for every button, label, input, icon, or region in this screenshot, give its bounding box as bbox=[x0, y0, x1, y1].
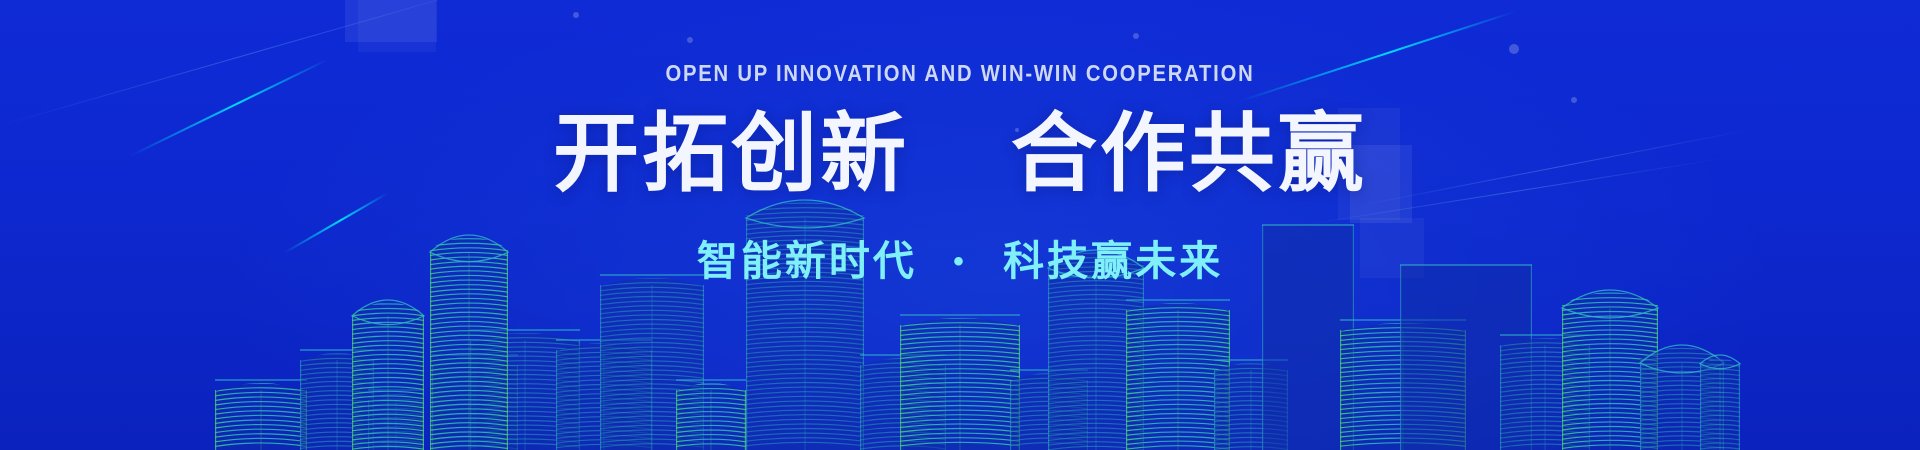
building-10 bbox=[676, 379, 746, 450]
building-13 bbox=[900, 314, 1020, 450]
subtitle-part-two: 科技赢未来 bbox=[1003, 238, 1223, 284]
building-4 bbox=[352, 299, 424, 450]
subtitle-separator-dot: • bbox=[953, 245, 967, 279]
banner-content: OPEN UP INNOVATION AND WIN-WIN COOPERATI… bbox=[0, 0, 1920, 287]
hero-banner: OPEN UP INNOVATION AND WIN-WIN COOPERATI… bbox=[0, 0, 1920, 450]
banner-eyebrow-text: OPEN UP INNOVATION AND WIN-WIN COOPERATI… bbox=[115, 60, 1805, 87]
headline-part-two: 合作共赢 bbox=[1011, 106, 1367, 202]
subtitle-part-one: 智能新时代 bbox=[697, 238, 917, 284]
building-1 bbox=[215, 379, 307, 450]
banner-headline: 开拓创新 合作共赢 bbox=[0, 111, 1920, 197]
banner-subtitle: 智能新时代 • 科技赢未来 bbox=[0, 227, 1920, 287]
building-24 bbox=[1700, 355, 1740, 450]
headline-part-one: 开拓创新 bbox=[553, 106, 909, 202]
